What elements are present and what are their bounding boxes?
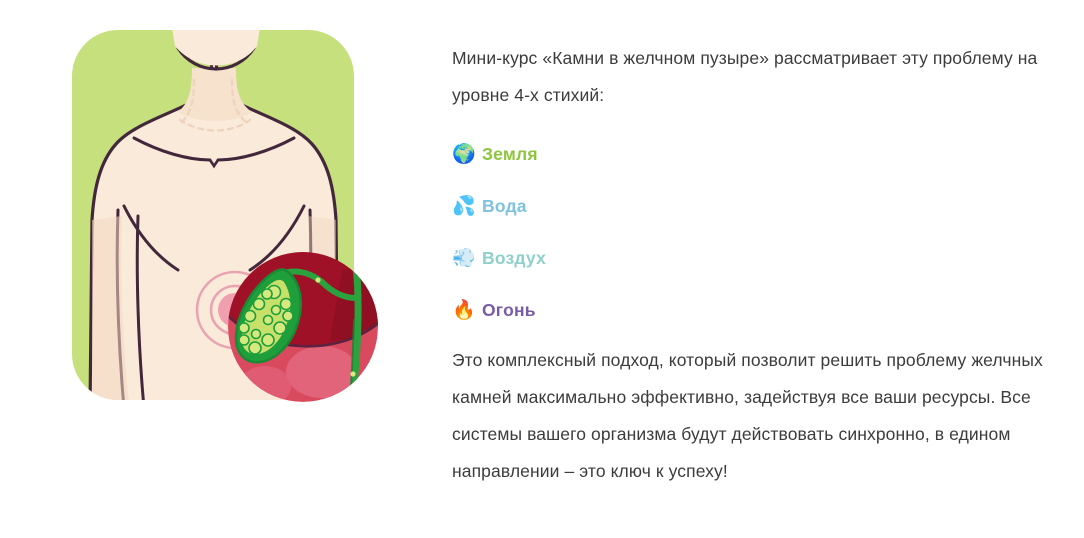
gallstone	[249, 342, 261, 354]
gallstone	[254, 299, 265, 310]
stomach-highlight	[286, 346, 358, 398]
gallstone	[283, 311, 293, 321]
element-label-air: Воздух	[482, 248, 546, 269]
content-column: Мини-курс «Камни в желчном пузыре» рассм…	[452, 40, 1052, 490]
list-item-water: 💦 Вода	[452, 180, 1052, 232]
gallstone	[272, 306, 281, 315]
gallstone	[264, 316, 273, 325]
gallstone	[281, 299, 292, 310]
gallstone	[245, 311, 256, 322]
duct-node	[350, 371, 355, 376]
fire-icon: 🔥	[452, 301, 482, 320]
list-item-earth: 🌍 Земля	[452, 128, 1052, 180]
intro-paragraph: Мини-курс «Камни в желчном пузыре» рассм…	[452, 40, 1044, 114]
element-label-earth: Земля	[482, 144, 538, 165]
gallstone	[252, 330, 261, 339]
illustration-svg	[60, 20, 420, 420]
list-item-fire: 🔥 Огонь	[452, 284, 1052, 336]
duct-node	[315, 277, 320, 282]
gallstone	[239, 323, 249, 333]
water-droplets-icon: 💦	[452, 197, 482, 216]
element-label-water: Вода	[482, 196, 527, 217]
gallbladder-anatomy-illustration	[60, 20, 420, 420]
gallstone	[262, 334, 274, 346]
page-root: Мини-курс «Камни в желчном пузыре» рассм…	[0, 0, 1084, 538]
gallstone	[262, 289, 272, 299]
list-item-air: 💨 Воздух	[452, 232, 1052, 284]
gallstone	[274, 322, 286, 334]
wind-blowing-icon: 💨	[452, 249, 482, 268]
gallstone	[239, 335, 249, 345]
closing-paragraph: Это комплексный подход, который позволит…	[452, 342, 1044, 490]
element-label-fire: Огонь	[482, 300, 536, 321]
four-elements-list: 🌍 Земля 💦 Вода 💨 Воздух 🔥 Огонь	[452, 128, 1052, 336]
earth-globe-icon: 🌍	[452, 145, 482, 164]
